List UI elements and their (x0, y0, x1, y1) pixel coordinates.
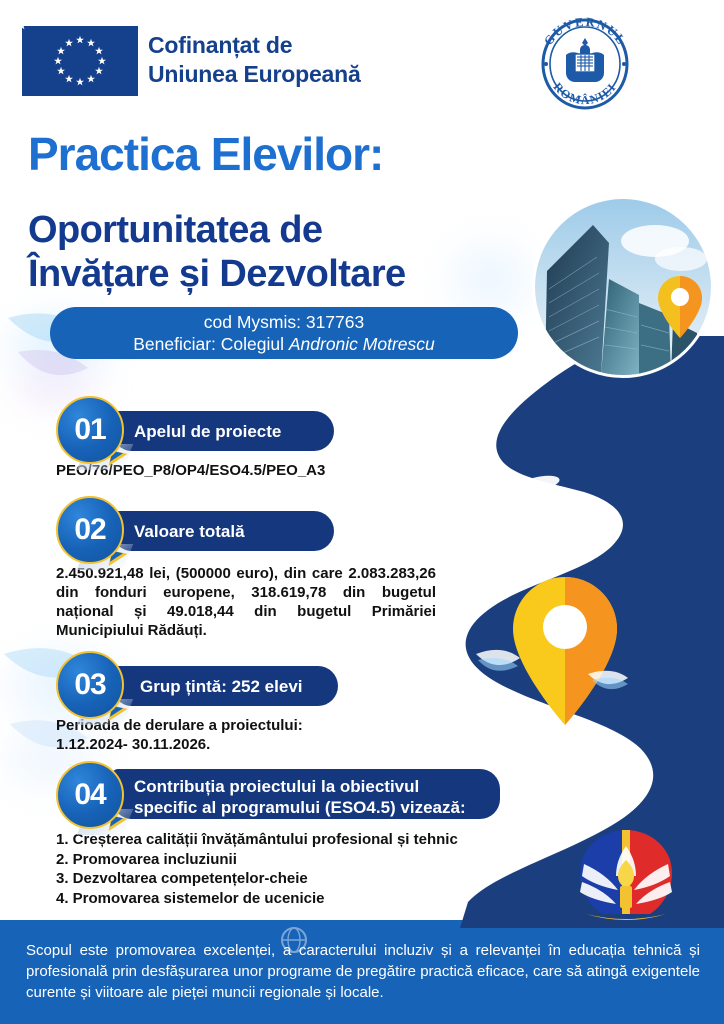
step-04-number: 04 (56, 761, 124, 829)
footer: Scopul este promovarea excelenței, a car… (0, 928, 724, 1024)
globe-icon (280, 926, 308, 954)
step-04-badge: 04 (56, 761, 124, 829)
step-04-label-line2: specific al programului (ESO4.5) vizează… (134, 797, 466, 818)
page-subtitle-line1: Oportunitatea de (28, 208, 406, 252)
page-subtitle-line2: Învățare și Dezvoltare (28, 252, 406, 296)
eu-funding-line1: Cofinanțat de (148, 31, 361, 60)
eu-funding-line2: Uniunea Europeană (148, 60, 361, 89)
map-pin-icon-small (658, 276, 702, 338)
step-02-label: Valoare totală (134, 521, 245, 542)
step-03-badge: 03 (56, 651, 124, 719)
footer-text: Scopul este promovarea excelenței, a car… (26, 940, 700, 1003)
pin-glow-accents (470, 620, 660, 750)
eu-flag (22, 26, 138, 96)
romanian-government-seal: GUVERNUL ROMÂNIEI (531, 16, 639, 112)
step-04-label: Contribuția proiectului la obiectivul sp… (134, 776, 466, 818)
step-03-number: 03 (56, 651, 124, 719)
step-01-number: 01 (56, 396, 124, 464)
step-01-badge: 01 (56, 396, 124, 464)
page-title: Practica Elevilor: (28, 129, 383, 179)
beneficiary-prefix: Beneficiar: Colegiul (133, 334, 289, 354)
step-02-number: 02 (56, 496, 124, 564)
mysmis-code: cod Mysmis: 317763 (204, 311, 365, 333)
eu-stars (22, 26, 138, 96)
page-subtitle: Oportunitatea de Învățare și Dezvoltare (28, 208, 406, 296)
header: Cofinanțat de Uniunea Europeană GUVERNUL… (0, 0, 724, 118)
step-04-label-line1: Contribuția proiectului la obiectivul (134, 776, 466, 797)
eu-funding-text: Cofinanțat de Uniunea Europeană (148, 31, 361, 89)
step-03-label: Grup țintă: 252 elevi (140, 676, 303, 697)
school-logo (566, 824, 686, 930)
step-01-label: Apelul de proiecte (134, 421, 281, 442)
step-02-badge: 02 (56, 496, 124, 564)
poster-root: Cofinanțat de Uniunea Europeană GUVERNUL… (0, 0, 724, 1024)
